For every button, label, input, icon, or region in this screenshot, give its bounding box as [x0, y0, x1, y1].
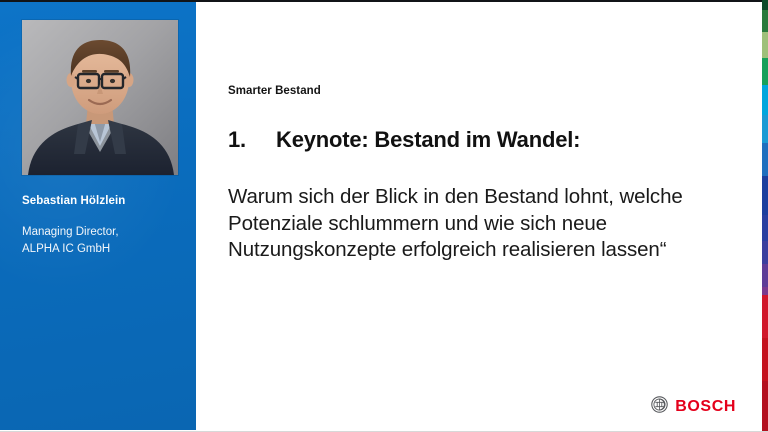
bosch-supergraphic-stripe — [762, 0, 768, 432]
slide-content: Smarter Bestand 1.Keynote: Bestand im Wa… — [196, 2, 762, 432]
speaker-role-line-2: ALPHA IC GmbH — [22, 241, 187, 258]
speaker-role-line-1: Managing Director, — [22, 224, 187, 241]
stripe-segment-3 — [762, 58, 768, 85]
stripe-segment-0 — [762, 0, 768, 10]
bosch-armature-icon — [651, 396, 668, 418]
bosch-wordmark: BOSCH — [675, 399, 736, 415]
bosch-logo: BOSCH — [651, 396, 736, 418]
stripe-segment-14 — [762, 381, 768, 432]
speaker-name: Sebastian Hölzlein — [22, 194, 187, 208]
slide-eyebrow-label: Smarter Bestand — [228, 85, 321, 97]
headline-number: 1. — [228, 127, 276, 153]
stripe-segment-9 — [762, 241, 768, 265]
stripe-segment-1 — [762, 10, 768, 32]
headline-text: Keynote: Bestand im Wandel: — [276, 127, 580, 152]
stripe-segment-6 — [762, 143, 768, 175]
presentation-slide: Sebastian Hölzlein Managing Director, AL… — [0, 0, 768, 432]
stripe-segment-13 — [762, 338, 768, 381]
stripe-segment-10 — [762, 264, 768, 287]
speaker-portrait-photo — [22, 20, 178, 175]
stripe-segment-8 — [762, 215, 768, 241]
stripe-segment-5 — [762, 115, 768, 143]
slide-subline: Warum sich der Blick in den Bestand lohn… — [228, 184, 748, 264]
stripe-segment-11 — [762, 287, 768, 295]
speaker-role: Managing Director, ALPHA IC GmbH — [22, 224, 187, 258]
slide-headline: 1.Keynote: Bestand im Wandel: — [228, 127, 748, 153]
stripe-segment-7 — [762, 176, 768, 215]
speaker-sidebar: Sebastian Hölzlein Managing Director, AL… — [0, 2, 196, 430]
stripe-segment-2 — [762, 32, 768, 58]
stripe-segment-4 — [762, 85, 768, 115]
stripe-segment-12 — [762, 295, 768, 338]
